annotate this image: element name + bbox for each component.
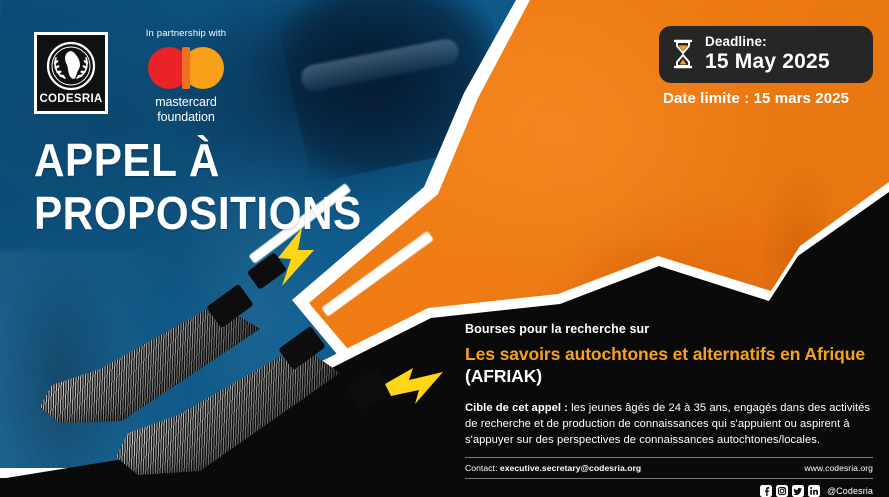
linkedin-icon[interactable] <box>808 485 820 497</box>
grant-body: Cible de cet appel : les jeunes âgés de … <box>465 400 873 449</box>
title-line-2: PROPOSITIONS <box>34 187 347 240</box>
mastercard-name-line2: foundation <box>130 110 242 125</box>
africa-laurel-emblem-icon <box>43 40 99 92</box>
grant-kicker: Bourses pour la recherche sur <box>465 322 873 336</box>
logo-header: CODESRIA In partnership with mastercard … <box>0 0 260 130</box>
grant-acronym: AFRIAK <box>471 366 537 386</box>
lightning-bolt-icon-bottom <box>385 366 447 406</box>
contact-row: Contact: executive.secretary@codesria.or… <box>465 463 873 473</box>
title-line-1: APPEL À <box>34 134 347 187</box>
mastercard-name-line1: mastercard <box>130 95 242 110</box>
social-row: @Codesria <box>465 485 873 497</box>
grant-title: Les savoirs autochtones et alternatifs e… <box>465 343 873 388</box>
deadline-badge: Deadline: 15 May 2025 <box>659 26 873 83</box>
contact-email[interactable]: executive.secretary@codesria.org <box>500 463 641 473</box>
page-title: APPEL À PROPOSITIONS <box>34 134 347 241</box>
website-link[interactable]: www.codesria.org <box>804 463 873 473</box>
deadline-text: Deadline: 15 May 2025 <box>705 35 830 73</box>
mastercard-circles-icon <box>148 47 224 89</box>
megaphone-illustration <box>20 215 440 495</box>
grant-acronym-close: ) <box>536 366 542 386</box>
grant-title-main: Les savoirs autochtones et alternatifs e… <box>465 344 865 364</box>
partnership-label: In partnership with <box>130 28 242 39</box>
codesria-wordmark: CODESRIA <box>39 94 102 106</box>
facebook-icon[interactable] <box>760 485 772 497</box>
twitter-icon[interactable] <box>792 485 804 497</box>
hourglass-icon <box>671 39 695 69</box>
instagram-icon[interactable] <box>776 485 788 497</box>
deadline-label: Deadline: <box>705 35 830 50</box>
contact-group: Contact: executive.secretary@codesria.or… <box>465 463 641 473</box>
contact-label: Contact: <box>465 463 497 473</box>
mastercard-foundation-logo: In partnership with mastercard foundatio… <box>130 28 242 125</box>
divider-top <box>465 457 873 458</box>
deadline-block: Deadline: 15 May 2025 Date limite : 15 m… <box>659 26 873 107</box>
deadline-date: 15 May 2025 <box>705 50 830 74</box>
grant-body-lead: Cible de cet appel : <box>465 402 568 414</box>
deadline-french: Date limite : 15 mars 2025 <box>659 90 873 107</box>
megaphone-handle-2 <box>322 232 433 317</box>
call-details: Bourses pour la recherche sur Les savoir… <box>465 322 873 497</box>
social-handle[interactable]: @Codesria <box>827 486 873 496</box>
codesria-logo: CODESRIA <box>34 32 108 114</box>
divider-bottom <box>465 478 873 479</box>
poster-canvas: CODESRIA In partnership with mastercard … <box>0 0 889 497</box>
